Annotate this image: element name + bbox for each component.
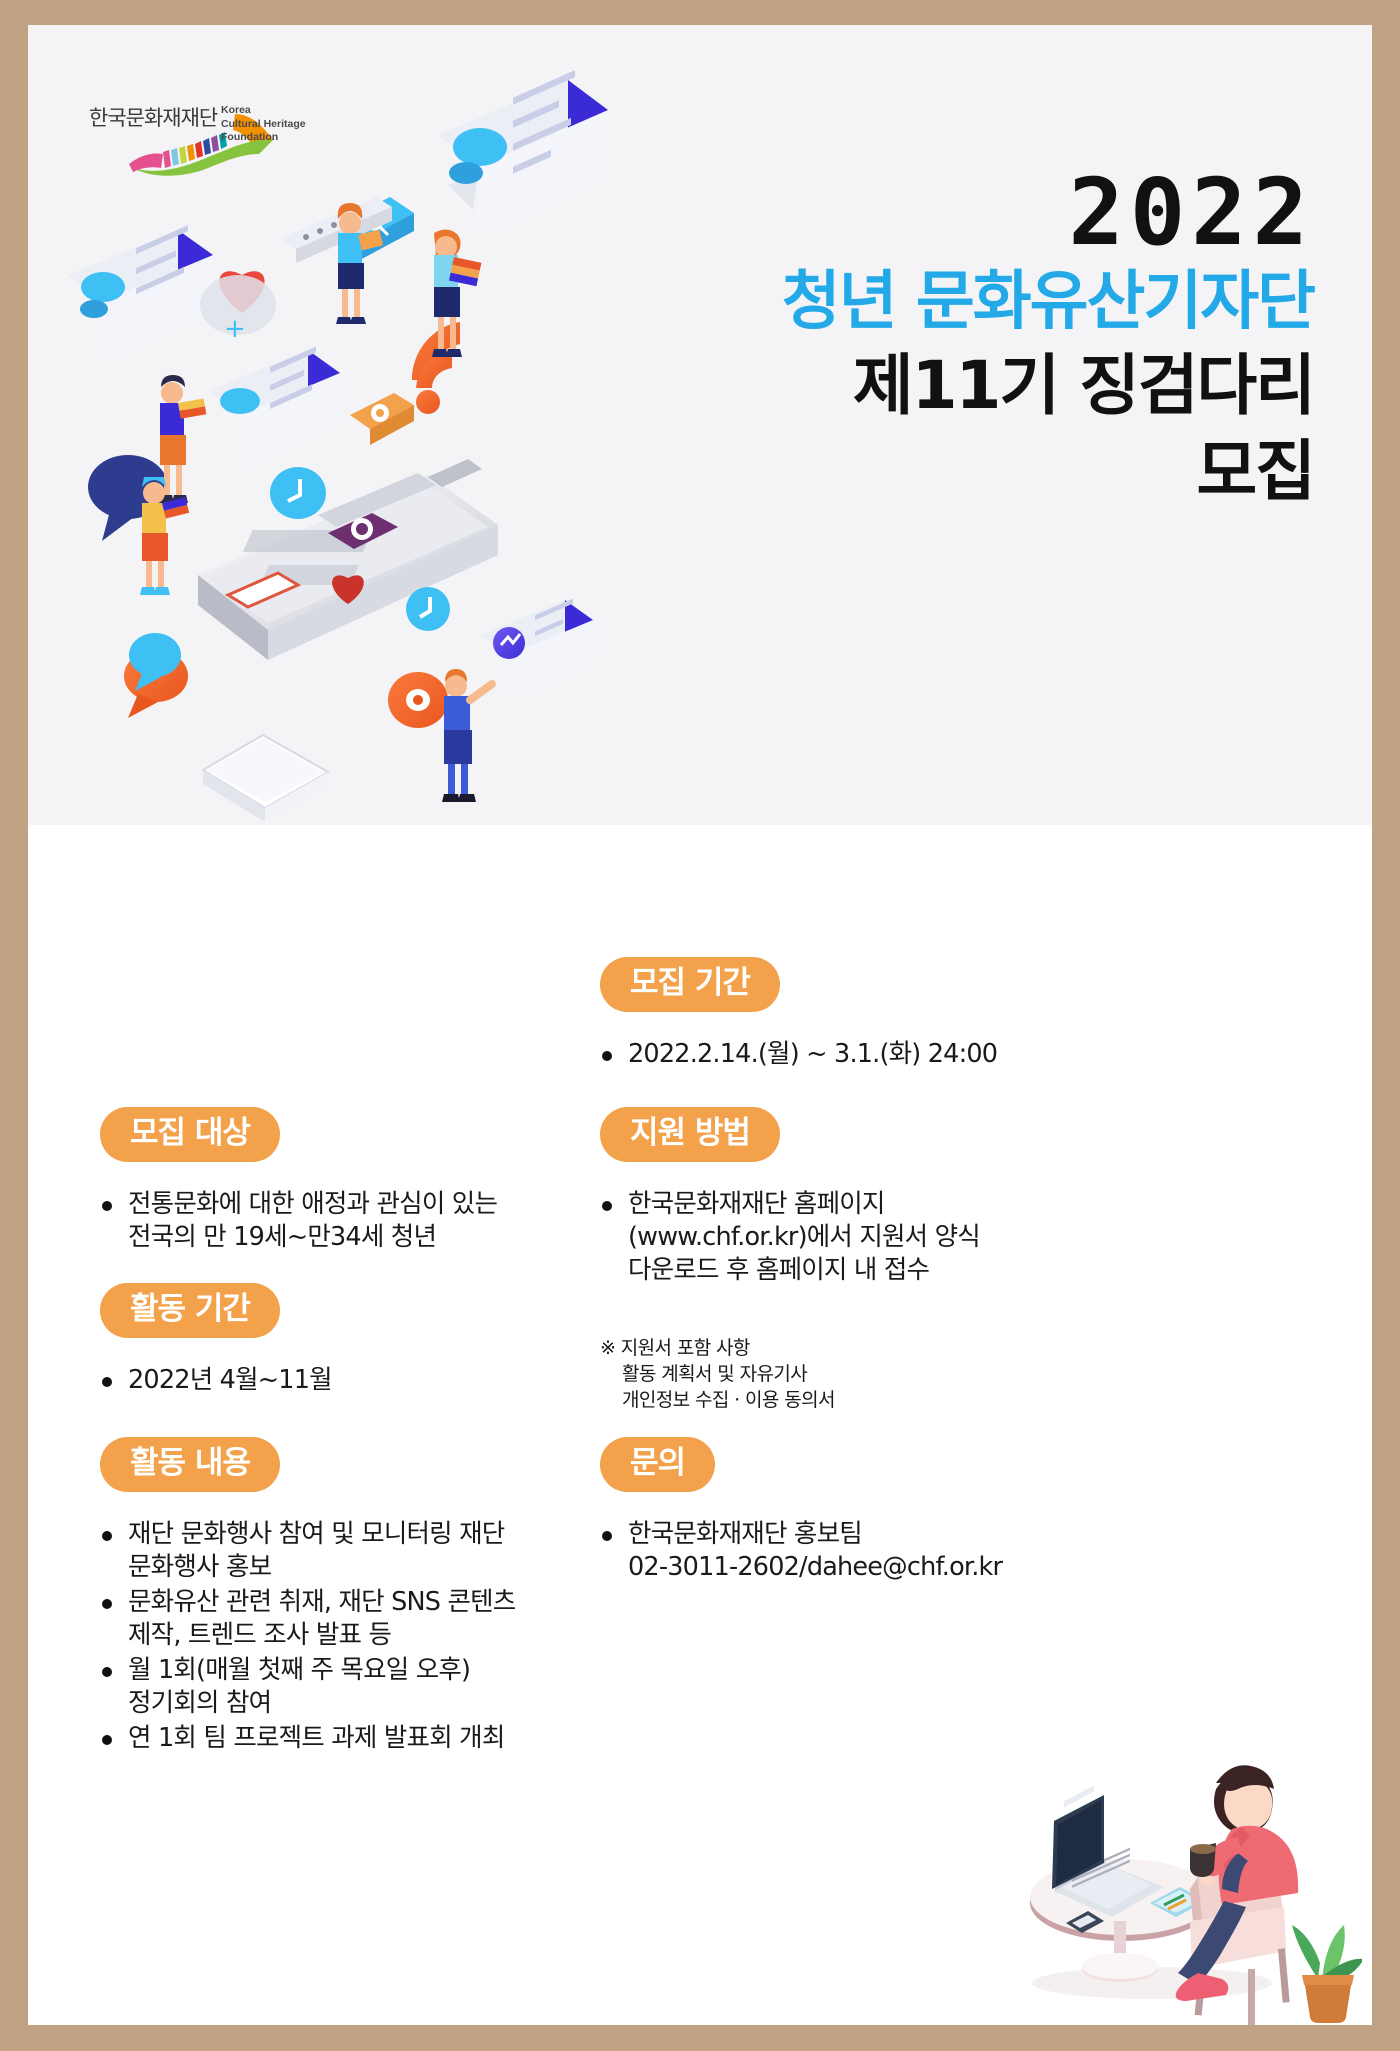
- poster-title: 2022 청년 문화유산기자단 제11기 징검다리 모집: [782, 165, 1314, 515]
- badge-apply-method: 지원 방법: [600, 1107, 780, 1162]
- list-item: 문화유산 관련 취재, 재단 SNS 콘텐츠 제작, 트렌드 조사 발표 등: [100, 1586, 620, 1652]
- list-item: 한국문화재재단 홍보팀 02-3011-2602/dahee@chf.or.kr: [600, 1518, 1120, 1584]
- organization-logo: 한국문화재재단 Korea Cultural Heritage Foundati…: [63, 80, 323, 180]
- logo-english-line2: Cultural Heritage: [221, 118, 306, 132]
- note-heading: ※ 지원서 포함 사항: [600, 1337, 750, 1359]
- badge-recruit-target: 모집 대상: [100, 1107, 280, 1162]
- list-item: 한국문화재재단 홈페이지 (www.chf.or.kr)에서 지원서 양식 다운…: [600, 1188, 1100, 1287]
- logo-english-line1: Korea: [221, 104, 306, 118]
- list-item: 월 1회(매월 첫째 주 목요일 오후) 정기회의 참여: [100, 1654, 620, 1720]
- title-main-line2: 모집: [782, 429, 1314, 515]
- list-activity-period: 2022년 4월~11월: [100, 1364, 600, 1397]
- list-item: 2022.2.14.(월) ~ 3.1.(화) 24:00: [600, 1038, 1120, 1071]
- section-recruit-period: 모집 기간 2022.2.14.(월) ~ 3.1.(화) 24:00: [600, 957, 1120, 1073]
- section-apply-method: 지원 방법 한국문화재재단 홈페이지 (www.chf.or.kr)에서 지원서…: [600, 1107, 1100, 1439]
- list-apply-method: 한국문화재재단 홈페이지 (www.chf.or.kr)에서 지원서 양식 다운…: [600, 1188, 1100, 1287]
- badge-recruit-period: 모집 기간: [600, 957, 780, 1012]
- list-item: 전통문화에 대한 애정과 관심이 있는 전국의 만 19세~만34세 청년: [100, 1188, 600, 1254]
- section-activity-period: 활동 기간 2022년 4월~11월: [100, 1283, 600, 1399]
- logo-english-name: Korea Cultural Heritage Foundation: [221, 104, 306, 145]
- title-subtitle-blue: 청년 문화유산기자단: [782, 261, 1314, 343]
- content-section: 모집 기간 2022.2.14.(월) ~ 3.1.(화) 24:00 모집 대…: [28, 825, 1372, 2025]
- hero-section: +: [28, 25, 1372, 825]
- logo-english-line3: Foundation: [221, 131, 306, 145]
- list-recruit-period: 2022.2.14.(월) ~ 3.1.(화) 24:00: [600, 1038, 1120, 1071]
- list-inquiry: 한국문화재재단 홍보팀 02-3011-2602/dahee@chf.or.kr: [600, 1518, 1120, 1584]
- list-recruit-target: 전통문화에 대한 애정과 관심이 있는 전국의 만 19세~만34세 청년: [100, 1188, 600, 1254]
- list-item: 재단 문화행사 참여 및 모니터링 재단 문화행사 홍보: [100, 1518, 620, 1584]
- section-inquiry: 문의 한국문화재재단 홍보팀 02-3011-2602/dahee@chf.or…: [600, 1437, 1120, 1586]
- badge-inquiry: 문의: [600, 1437, 715, 1492]
- badge-activity-period: 활동 기간: [100, 1283, 280, 1338]
- logo-korean-name: 한국문화재재단: [89, 102, 217, 132]
- note-body: 활동 계획서 및 자유기사 개인정보 수집 · 이용 동의서: [600, 1361, 1100, 1413]
- list-item: 연 1회 팀 프로젝트 과제 발표회 개최: [100, 1722, 620, 1755]
- footer-illustration: [1002, 1725, 1362, 2025]
- section-recruit-target: 모집 대상 전통문화에 대한 애정과 관심이 있는 전국의 만 19세~만34세…: [100, 1107, 600, 1256]
- title-year: 2022: [782, 165, 1314, 261]
- badge-activity-content: 활동 내용: [100, 1437, 280, 1492]
- list-item: 2022년 4월~11월: [100, 1364, 600, 1397]
- section-activity-content: 활동 내용 재단 문화행사 참여 및 모니터링 재단 문화행사 홍보 문화유산 …: [100, 1437, 620, 1757]
- poster-canvas: +: [28, 25, 1372, 2025]
- svg-text:+: +: [224, 314, 246, 344]
- list-activity-content: 재단 문화행사 참여 및 모니터링 재단 문화행사 홍보 문화유산 관련 취재,…: [100, 1518, 620, 1755]
- apply-method-note: ※ 지원서 포함 사항 활동 계획서 및 자유기사 개인정보 수집 · 이용 동…: [600, 1309, 1100, 1439]
- title-main-line1: 제11기 징검다리: [782, 343, 1314, 429]
